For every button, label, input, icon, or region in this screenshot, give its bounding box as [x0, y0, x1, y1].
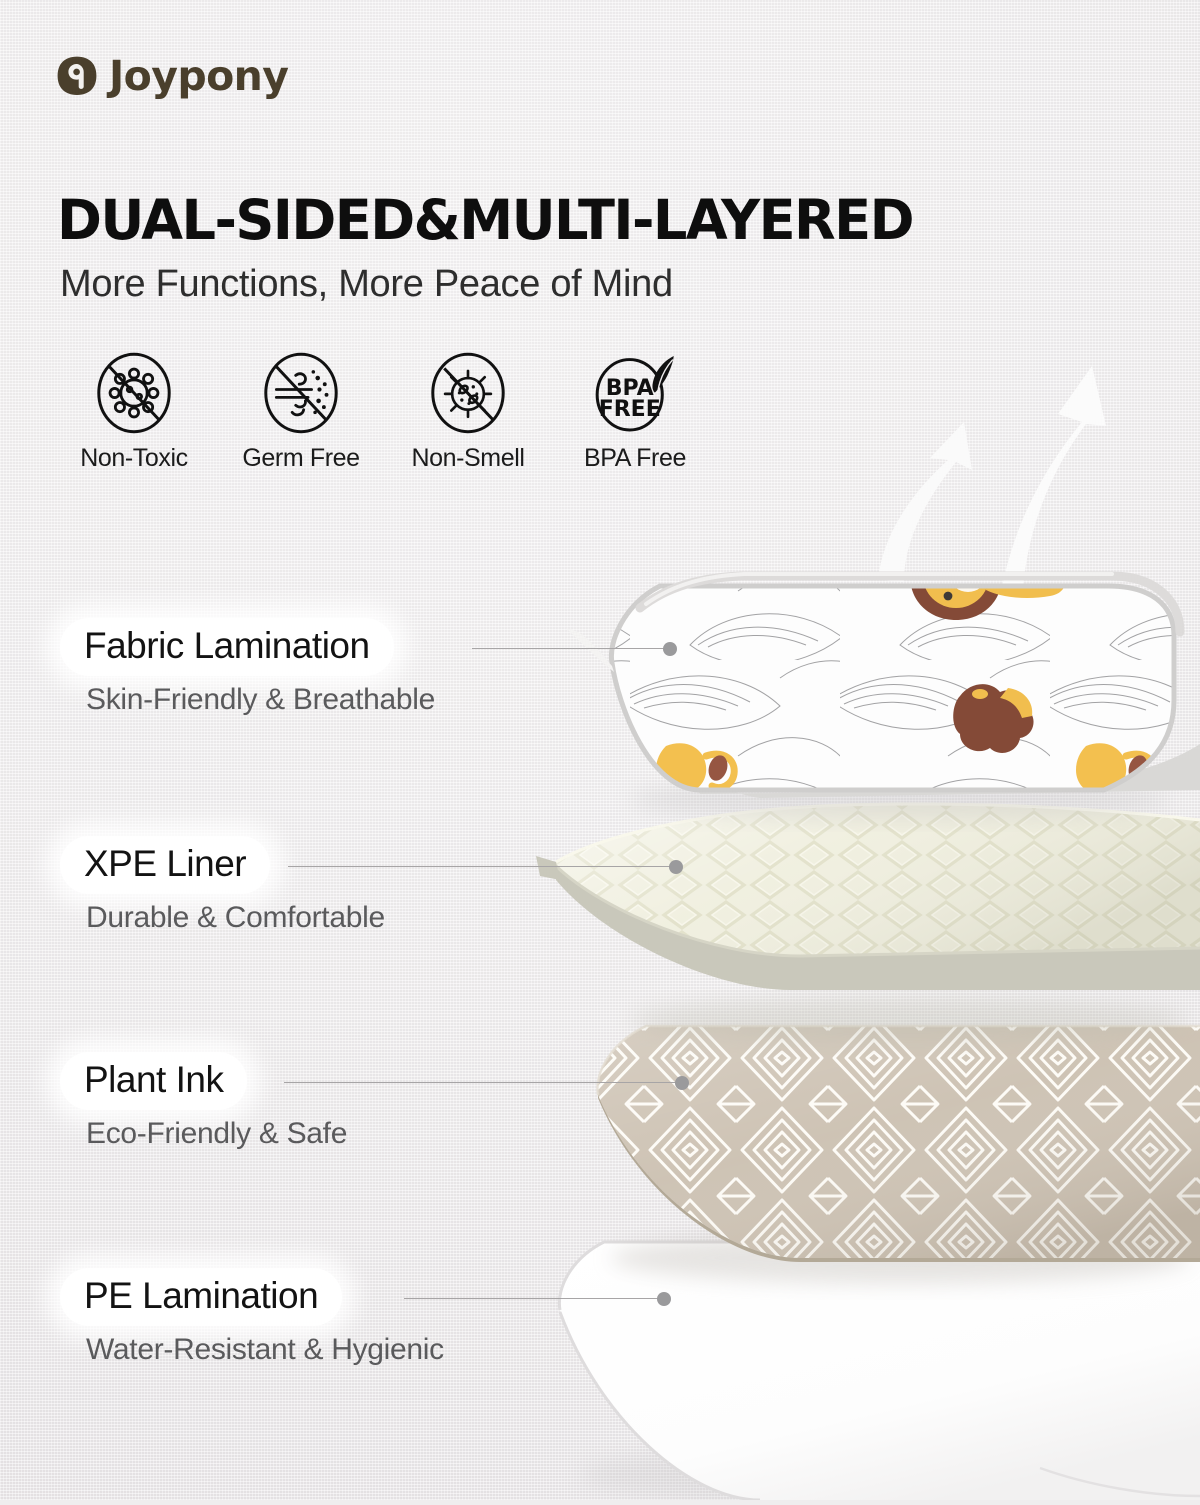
leader-line-endpoint-dot: [657, 1292, 671, 1306]
leader-line-stroke: [288, 866, 678, 867]
layer-title: XPE Liner: [60, 836, 270, 894]
leader-line: [284, 1076, 684, 1090]
leader-line: [472, 642, 672, 656]
wind-particles-no-slash-icon: [233, 348, 369, 438]
leader-line-stroke: [404, 1298, 666, 1299]
page-title: DUAL-SIDED&MULTI-LAYERED: [57, 188, 913, 252]
leader-line-endpoint-dot: [669, 860, 683, 874]
badge-label: Germ Free: [233, 444, 369, 473]
badge-bpa-free: BPA FREE BPA Free: [567, 348, 703, 473]
brand-name: Joypony: [109, 52, 288, 100]
layer-callout-plant-ink: Plant Ink Eco-Friendly & Safe: [60, 1052, 347, 1151]
leader-line: [404, 1292, 666, 1306]
two-curved-up-arrows-icon: [860, 330, 1180, 610]
svg-text:FREE: FREE: [599, 397, 661, 422]
page-subtitle: More Functions, More Peace of Mind: [60, 263, 673, 306]
brand-logo: Joypony: [56, 52, 288, 100]
germ-odor-no-slash-icon: [400, 348, 536, 438]
leader-line-endpoint-dot: [675, 1076, 689, 1090]
leader-line-stroke: [472, 648, 672, 649]
joypony-pony-hook-mark-icon: [56, 55, 98, 97]
badge-label: BPA Free: [567, 444, 703, 473]
badge-non-toxic: Non-Toxic: [66, 348, 202, 473]
virus-no-slash-icon: [66, 348, 202, 438]
layer-title: PE Lamination: [60, 1268, 342, 1326]
badge-germ-free: Germ Free: [233, 348, 369, 473]
layer-callout-pe-lamination: PE Lamination Water-Resistant & Hygienic: [60, 1268, 444, 1367]
leader-line: [288, 860, 678, 874]
layer-title: Fabric Lamination: [60, 618, 394, 676]
layer-callout-fabric-lamination: Fabric Lamination Skin-Friendly & Breath…: [60, 618, 435, 717]
layer-callout-xpe-liner: XPE Liner Durable & Comfortable: [60, 836, 385, 935]
certification-badges: Non-Toxic Ge: [66, 348, 703, 473]
layer-benefit: Eco-Friendly & Safe: [86, 1117, 347, 1151]
bpa-free-leaf-icon: BPA FREE: [567, 348, 703, 438]
badge-non-smell: Non-Smell: [400, 348, 536, 473]
leader-line-stroke: [284, 1082, 684, 1083]
badge-label: Non-Toxic: [66, 444, 202, 473]
layer-benefit: Water-Resistant & Hygienic: [86, 1333, 444, 1367]
layer-benefit: Skin-Friendly & Breathable: [86, 683, 435, 717]
layer-benefit: Durable & Comfortable: [86, 901, 385, 935]
leader-line-endpoint-dot: [663, 642, 677, 656]
badge-label: Non-Smell: [400, 444, 536, 473]
layer-title: Plant Ink: [60, 1052, 247, 1110]
